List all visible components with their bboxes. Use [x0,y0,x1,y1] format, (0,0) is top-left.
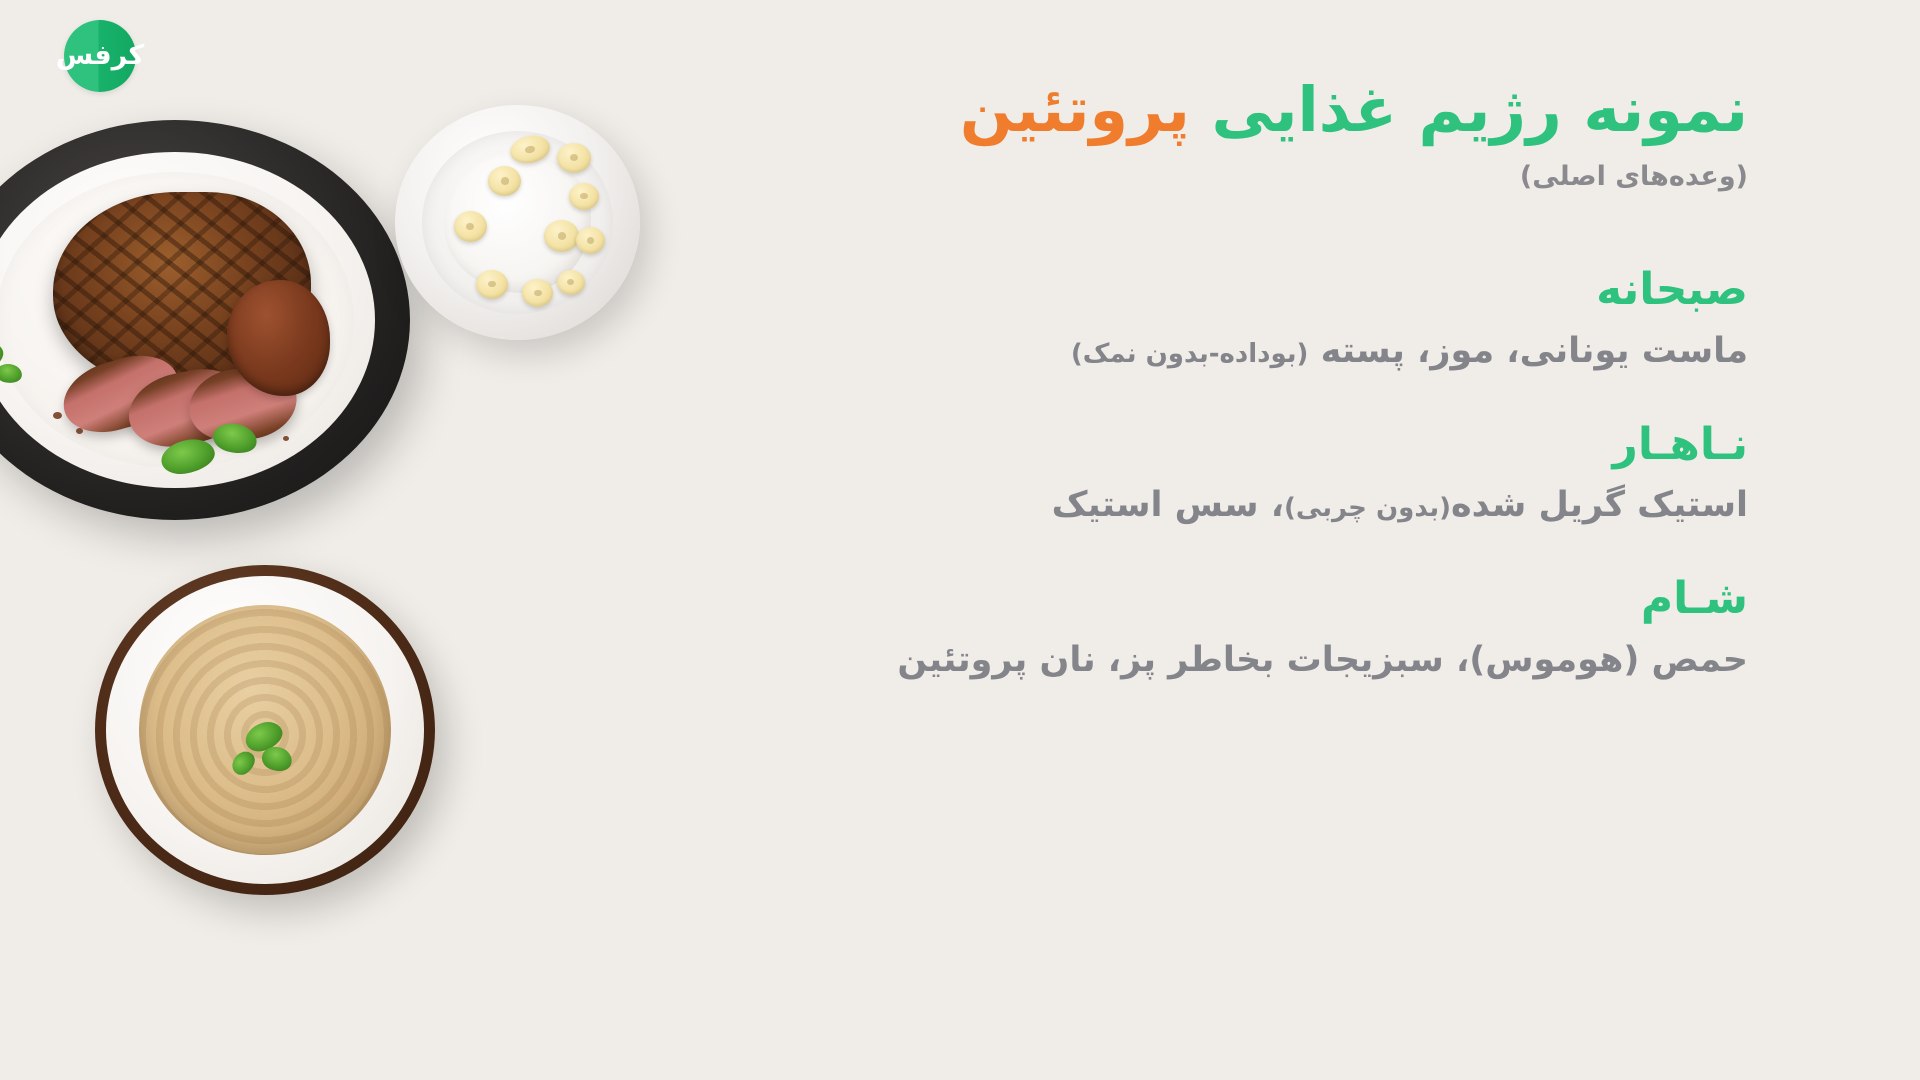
meal-heading-lunch: نـاهـار [638,419,1748,472]
hummus-bowl-image [95,565,435,895]
meal-heading-dinner: شـام [638,573,1748,626]
page-subtitle: (وعده‌های اصلی) [638,161,1748,192]
meal-section-lunch: نـاهـار استیک گریل شده(بدون چربی)، سس اس… [638,419,1748,529]
brand-logo-mark: کرفس [56,42,144,69]
meal-note-lunch: (بدون چربی) [1284,493,1451,523]
meal-body-lunch: استیک گریل شده(بدون چربی)، سس استیک [638,483,1748,529]
meal-body-text-breakfast: ماست یونانی، موز، پسته [1308,331,1748,371]
banana-slice [454,211,487,242]
sauce-droplet [53,412,62,419]
grilled-steak-plate-image [0,120,410,520]
page-title: نمونه رژیم غذایی پروتئین [638,74,1748,145]
banana-slice [569,183,599,210]
slide-canvas: کرفس [0,0,1920,1080]
meal-body-dinner: حمص (هوموس)، سبزیجات بخاطر پز، نان پروتئ… [638,638,1748,684]
page-title-accent: پروتئین [960,73,1190,146]
meal-section-breakfast: صبحانه ماست یونانی، موز، پسته (بوداده-بد… [638,264,1748,374]
brand-logo[interactable]: کرفس [64,20,136,92]
banana-slice [557,143,591,173]
content-column: نمونه رژیم غذایی پروتئین (وعده‌های اصلی)… [638,74,1748,683]
meal-note-breakfast: (بوداده-بدون نمک) [1071,339,1309,369]
banana-slice [488,166,521,196]
meal-heading-breakfast: صبحانه [638,264,1748,317]
banana-slice [476,270,508,299]
meal-section-dinner: شـام حمص (هوموس)، سبزیجات بخاطر پز، نان … [638,573,1748,683]
banana-slice [557,270,585,295]
page-title-primary: نمونه رژیم غذایی [1190,73,1748,146]
meal-body-lead-lunch: استیک گریل شده [1451,485,1748,525]
meal-body-tail-lunch: ، سس استیک [1052,485,1284,525]
greek-yogurt-banana-bowl-image [395,105,640,340]
meal-body-breakfast: ماست یونانی، موز، پسته (بوداده-بدون نمک) [638,329,1748,375]
